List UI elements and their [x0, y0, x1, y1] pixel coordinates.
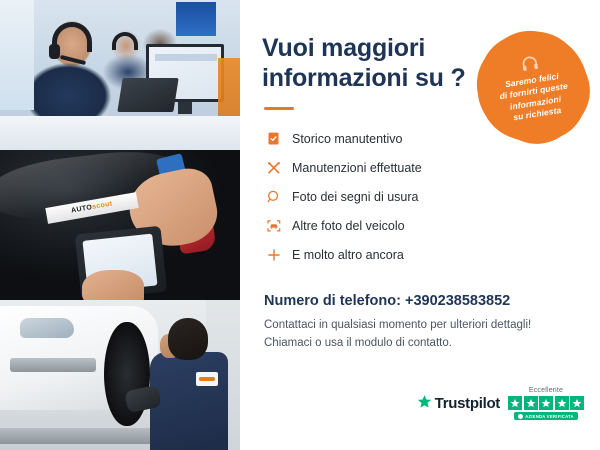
contact-text-line-1: Contattaci in qualsiasi momento per ulte… — [264, 319, 531, 331]
wall-poster — [176, 2, 216, 36]
check-circle-icon — [518, 414, 523, 419]
phone-number[interactable]: Numero di telefono: +390238583852 — [264, 293, 578, 309]
star-filled-icon — [539, 396, 553, 410]
feature-item-more: E molto altro ancora — [266, 240, 578, 269]
laptop — [117, 78, 178, 112]
document-check-icon — [266, 131, 292, 146]
trustpilot-rating[interactable]: Trustpilot Eccellente — [417, 387, 584, 420]
trustpilot-rating-label: Eccellente — [529, 387, 563, 394]
desk-surface — [0, 116, 240, 150]
uniform-logo-patch — [196, 372, 218, 386]
contact-text-line-2: Chiamaci o usa il modulo di contatto. — [264, 337, 452, 349]
feature-label: E molto altro ancora — [292, 248, 404, 262]
photo-strip: AUTOscout — [0, 0, 240, 450]
headset-earcup — [49, 44, 60, 59]
car-tire — [104, 322, 150, 426]
info-panel: Vuoi maggiori informazioni su ? Saremo f… — [240, 0, 600, 450]
star-filled-icon — [508, 396, 522, 410]
mechanic-body — [150, 352, 228, 450]
badge-text: Saremo felici di fornirti queste informa… — [497, 70, 572, 125]
feature-label: Foto dei segni di usura — [292, 190, 418, 204]
star-filled-icon — [524, 396, 538, 410]
photo-mechanic-wheel-inspection — [0, 300, 240, 450]
contact-text: Contattaci in qualsiasi momento per ulte… — [264, 317, 578, 353]
car-grille — [10, 358, 96, 372]
technician-left-hand — [82, 270, 144, 300]
feature-label: Manutenzioni effettuate — [292, 161, 422, 175]
vehicle-lift-platform — [0, 428, 150, 444]
promo-card: AUTOscout Vuoi maggiori informazioni su … — [0, 0, 600, 450]
trustpilot-logo: Trustpilot — [417, 394, 500, 414]
headset-icon — [518, 53, 540, 75]
plus-icon — [266, 247, 292, 263]
headset-microphone — [60, 55, 86, 65]
second-headset-band — [112, 32, 138, 50]
availability-badge: Saremo felici di fornirti queste informa… — [480, 34, 586, 140]
trustpilot-logo-text: Trustpilot — [435, 395, 500, 412]
feature-item-vehicle-photos: Altre foto del veicolo — [266, 211, 578, 240]
feature-label: Altre foto del veicolo — [292, 219, 405, 233]
title-underline-rule — [264, 107, 294, 110]
monitor-stand — [178, 102, 192, 114]
trustpilot-star-icon — [417, 394, 432, 414]
feature-item-maintenance-done: Manutenzioni effettuate — [266, 153, 578, 182]
photo-call-center-agents-with-headsets — [0, 0, 240, 150]
verified-badge-text: AZIENDA VERIFICATA — [525, 414, 574, 419]
magnifier-icon — [266, 189, 292, 205]
verified-company-badge: AZIENDA VERIFICATA — [514, 412, 578, 420]
trustpilot-score-block: Eccellente — [508, 387, 584, 420]
feature-label: Storico manutentivo — [292, 132, 402, 146]
star-filled-icon — [555, 396, 569, 410]
page-title-line-1: Vuoi maggiori — [262, 34, 425, 62]
window-light — [0, 0, 34, 110]
photo-technician-tablet-inspection: AUTOscout — [0, 150, 240, 300]
trustpilot-stars — [508, 396, 584, 410]
badge-content: Saremo felici di fornirti queste informa… — [472, 26, 593, 147]
car-headlight — [20, 318, 74, 338]
star-filled-icon — [570, 396, 584, 410]
tools-cross-icon — [266, 160, 292, 176]
feature-item-wear-photos: Foto dei segni di usura — [266, 182, 578, 211]
mechanic-hair — [168, 318, 208, 360]
page-title-line-2: informazioni su ? — [262, 64, 466, 92]
feature-list: Storico manutentivo Manutenzioni effettu… — [266, 124, 578, 269]
car-scan-icon — [266, 218, 292, 234]
